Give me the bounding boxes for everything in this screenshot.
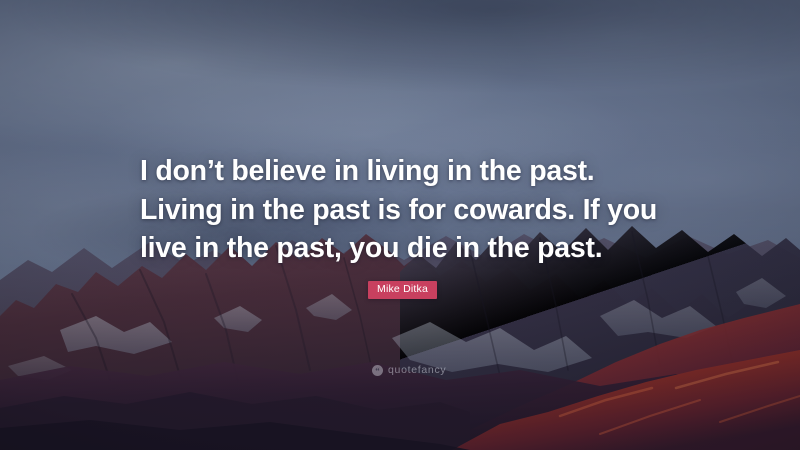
author-badge: Mike Ditka — [368, 281, 437, 299]
poster-content: I don’t believe in living in the past. L… — [0, 0, 800, 450]
watermark[interactable]: “ quotefancy — [372, 365, 446, 376]
quote-text: I don’t believe in living in the past. L… — [140, 152, 670, 268]
watermark-brand-label: quotefancy — [388, 365, 446, 376]
quotefancy-logo-icon: “ — [372, 365, 383, 376]
quote-mark-glyph: “ — [375, 367, 380, 376]
quote-poster: I don’t believe in living in the past. L… — [0, 0, 800, 450]
